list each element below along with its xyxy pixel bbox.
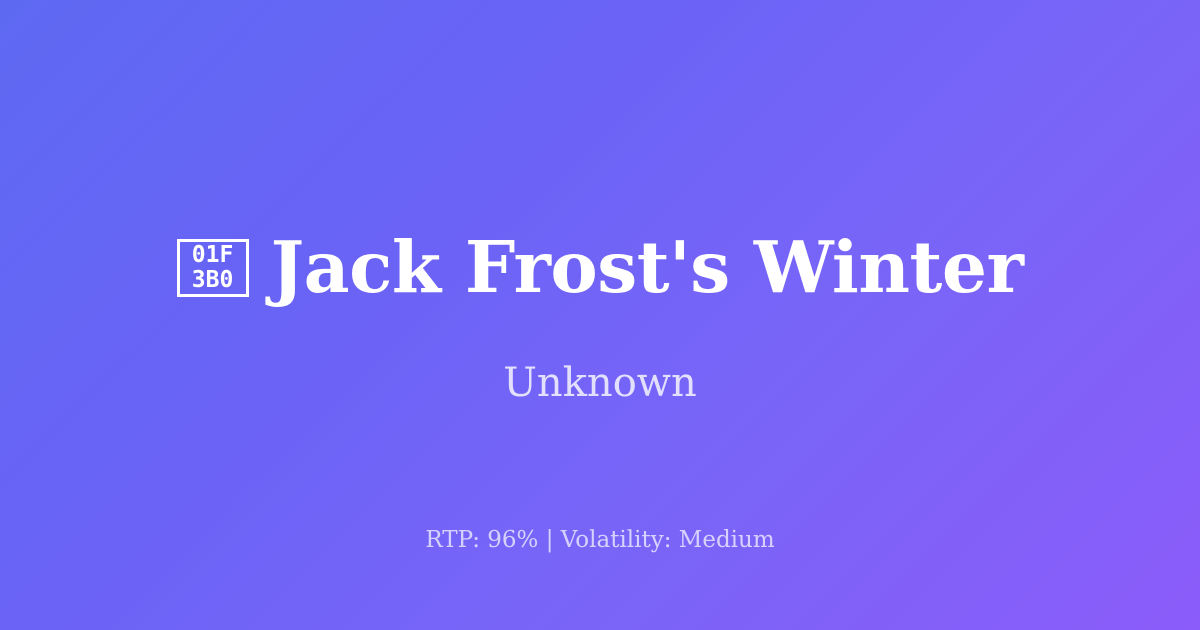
page-title: Jack Frost's Winter	[271, 232, 1024, 303]
codepoint-bottom: 3B0	[192, 268, 234, 293]
codepoint-top: 01F	[192, 243, 234, 268]
game-preview-card: 01F 3B0 Jack Frost's Winter Unknown RTP:…	[0, 0, 1200, 630]
game-stats-line: RTP: 96% | Volatility: Medium	[0, 529, 1200, 552]
title-row: 01F 3B0 Jack Frost's Winter	[0, 232, 1200, 303]
provider-subtitle: Unknown	[0, 363, 1200, 403]
slot-machine-icon: 01F 3B0	[177, 239, 249, 297]
